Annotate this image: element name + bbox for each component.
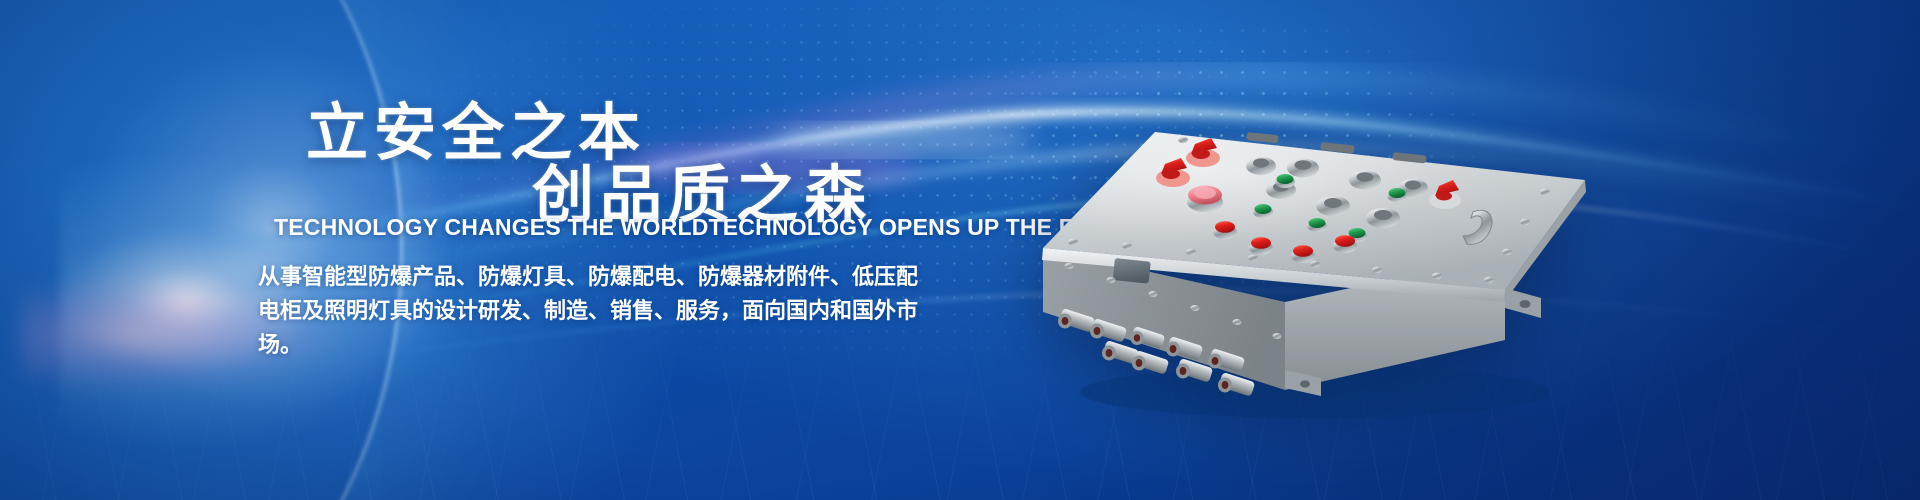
description-line-2: 电柜及照明灯具的设计研发、制造、销售、服务，面向国内和国外市场。 (258, 294, 918, 362)
rotary-switch[interactable] (1349, 171, 1381, 190)
emergency-stop-button[interactable] (1187, 186, 1223, 213)
description-text: 从事智能型防爆产品、防爆灯具、防爆配电、防爆器材附件、低压配 电柜及照明灯具的设… (258, 260, 918, 362)
banner-copy: 立安全之本 创品质之森 TECHNOLOGY CHANGES THE WORLD… (0, 0, 960, 500)
cable-gland (1132, 350, 1169, 375)
rotary-switch[interactable] (1246, 157, 1276, 175)
rotary-switch[interactable] (1287, 159, 1319, 178)
rotary-switch[interactable] (1366, 208, 1400, 228)
product-image-explosion-proof-control-cabinet (985, 40, 1685, 420)
nameplate (1113, 258, 1151, 284)
rotary-switch[interactable] (1316, 196, 1350, 216)
push-button-red[interactable] (1333, 235, 1357, 253)
push-button-red[interactable] (1291, 245, 1315, 263)
mounting-bracket (1505, 288, 1541, 318)
push-button-red[interactable] (1249, 237, 1273, 255)
hero-banner: 立安全之本 创品质之森 TECHNOLOGY CHANGES THE WORLD… (0, 0, 1920, 500)
description-line-1: 从事智能型防爆产品、防爆灯具、防爆配电、防爆器材附件、低压配 (258, 260, 918, 294)
push-button-red[interactable] (1213, 221, 1237, 239)
